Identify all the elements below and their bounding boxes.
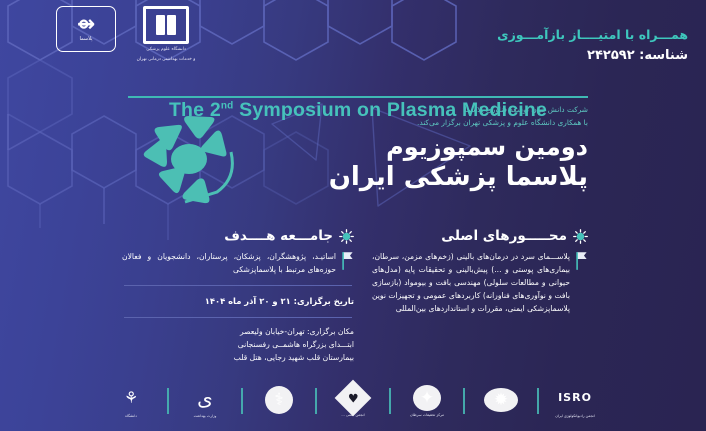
event-venue: مکان برگزاری: تهران-خیابان ولیعصر ابتـــ… xyxy=(122,326,354,365)
logo-plasma-caption: پلاسما xyxy=(80,36,93,42)
flag-icon xyxy=(341,251,354,271)
sponsor-logo-university-seal: ⚘ دانشگاه xyxy=(95,384,167,419)
content-columns: محـــــورهای اصلی پلاســـمای سرد در درما… xyxy=(0,228,706,378)
society-seal-icon: ✹ xyxy=(484,388,518,412)
audience-heading-row: جامـــعه هــــدف xyxy=(122,228,354,244)
arrow-burst-icon: ⇴ xyxy=(77,16,95,35)
event-date-label: تاریخ برگزاری: xyxy=(294,296,354,306)
event-date-row: تاریخ برگزاری: ۲۱ و ۲۰ آذر ماه ۱۴۰۴ xyxy=(122,294,354,308)
topics-heading: محـــــورهای اصلی xyxy=(441,228,567,244)
column-target-audience: جامـــعه هــــدف اساتیـد، پژوهشگران، پزش… xyxy=(122,228,354,365)
sponsor-logo-bar: ISRO انجمن رادیوانکولوژی ایران ✹ ✦ مرکز … xyxy=(0,379,706,423)
sponsor-divider xyxy=(463,388,465,414)
cancer-research-icon: ✦ xyxy=(413,385,441,411)
accreditation-id: شناسه: ۲۴۲۵۹۲ xyxy=(497,47,688,66)
top-logos: دانشگاه علوم پزشکی و خدمات بهداشتی درمان… xyxy=(56,6,202,63)
venue-line-2: ابتـــدای بزرگراه هاشمــی رفسنجانی xyxy=(122,339,354,352)
sponsor-logo-cardiovascular-institute: ♥ انجمن علمی ... xyxy=(317,385,389,418)
venue-line-1: مکان برگزاری: تهران-خیابان ولیعصر xyxy=(122,326,354,339)
flag-icon xyxy=(575,251,588,271)
sponsor-caption: دانشگاه xyxy=(125,414,137,419)
title-english-pre: The 2 xyxy=(169,99,221,121)
caduceus-icon: ⚕ xyxy=(265,386,293,414)
topics-body: پلاســـمای سرد در درمان‌های بالینی (زخم‌… xyxy=(372,250,570,315)
sun-bullet-icon xyxy=(573,229,588,244)
heart-glyph: ♥ xyxy=(348,391,359,405)
topics-heading-row: محـــــورهای اصلی xyxy=(372,228,588,244)
sponsor-logo-isro: ISRO انجمن رادیوانکولوژی ایران xyxy=(539,384,611,419)
sponsor-divider xyxy=(389,388,391,414)
sponsor-logo-society-seal: ✹ xyxy=(465,388,537,414)
audience-divider-bottom xyxy=(124,317,352,318)
sponsor-divider xyxy=(537,388,539,414)
title-farsi-line-1: دومین سمپوزیوم xyxy=(128,134,588,162)
society-seal-glyph: ✹ xyxy=(494,390,508,410)
accreditation-label: همـــراه با امتیــــاز بازآمـــوزی xyxy=(497,26,688,44)
sponsor-caption: انجمن رادیوانکولوژی ایران xyxy=(555,414,595,419)
topics-body-row: پلاســـمای سرد در درمان‌های بالینی (زخم‌… xyxy=(372,250,588,315)
university-seal-icon: ⚘ xyxy=(111,384,151,412)
ministry-health-icon: ی xyxy=(185,384,225,412)
isro-glyph: ISRO xyxy=(558,391,592,404)
venue-city: تهران-خیابان ولیعصر xyxy=(240,327,305,336)
audience-body-row: اساتیـد، پژوهشگران، پزشکان، پرستاران، دا… xyxy=(122,250,354,276)
sponsor-logo-cancer-research-center: ✦ مرکز تحقیقات سرطان xyxy=(391,385,463,418)
logo-plasma-company: ⇴ پلاسما xyxy=(56,6,116,52)
ministry-glyph: ی xyxy=(197,386,213,410)
sponsor-logo-ministry-health: ی وزارت بهداشت xyxy=(169,384,241,419)
audience-divider-top xyxy=(124,285,352,286)
heart-diamond-icon: ♥ xyxy=(335,379,372,416)
sponsor-divider xyxy=(167,388,169,414)
sponsor-caption: مرکز تحقیقات سرطان xyxy=(410,413,444,418)
book-logo-icon xyxy=(143,6,189,44)
venue-label: مکان برگزاری: xyxy=(307,327,354,336)
sponsor-caption: وزارت بهداشت xyxy=(194,414,217,419)
event-date-value: ۲۱ و ۲۰ آذر ماه ۱۴۰۴ xyxy=(205,296,291,306)
venue-line-3: بیمارستان قلب شهید رجایی، هتل قلب xyxy=(122,352,354,365)
logo-caption-line1: دانشگاه علوم پزشکی xyxy=(146,47,186,54)
caduceus-glyph: ⚕ xyxy=(274,390,283,410)
title-english-post: Symposium on Plasma Medicine xyxy=(234,99,548,121)
conference-poster: دانشگاه علوم پزشکی و خدمات بهداشتی درمان… xyxy=(0,0,706,431)
sponsor-divider xyxy=(315,388,317,414)
audience-body: اساتیـد، پژوهشگران، پزشکان، پرستاران، دا… xyxy=(122,250,336,276)
isro-icon: ISRO xyxy=(555,384,595,412)
sun-bullet-icon xyxy=(339,229,354,244)
title-divider xyxy=(128,96,588,98)
cancer-research-glyph: ✦ xyxy=(420,388,434,408)
sponsor-logo-medical-council: ⚕ xyxy=(243,386,315,416)
sponsor-divider xyxy=(241,388,243,414)
title-english-ordinal: nd xyxy=(221,101,234,112)
university-glyph: ⚘ xyxy=(124,388,138,407)
title-farsi-line-2: پلاسما پزشکی ایران xyxy=(128,163,588,193)
title-english: The 2nd Symposium on Plasma Medicine xyxy=(128,99,588,122)
accreditation-block: همـــراه با امتیــــاز بازآمـــوزی شناسه… xyxy=(497,26,688,66)
column-main-topics: محـــــورهای اصلی پلاســـمای سرد در درما… xyxy=(372,228,588,315)
logo-caption-line2: و خدمات بهداشتی درمانی تهران xyxy=(137,57,196,64)
audience-heading: جامـــعه هــــدف xyxy=(224,228,333,244)
logo-tehran-university-medical-sciences: دانشگاه علوم پزشکی و خدمات بهداشتی درمان… xyxy=(130,6,202,63)
